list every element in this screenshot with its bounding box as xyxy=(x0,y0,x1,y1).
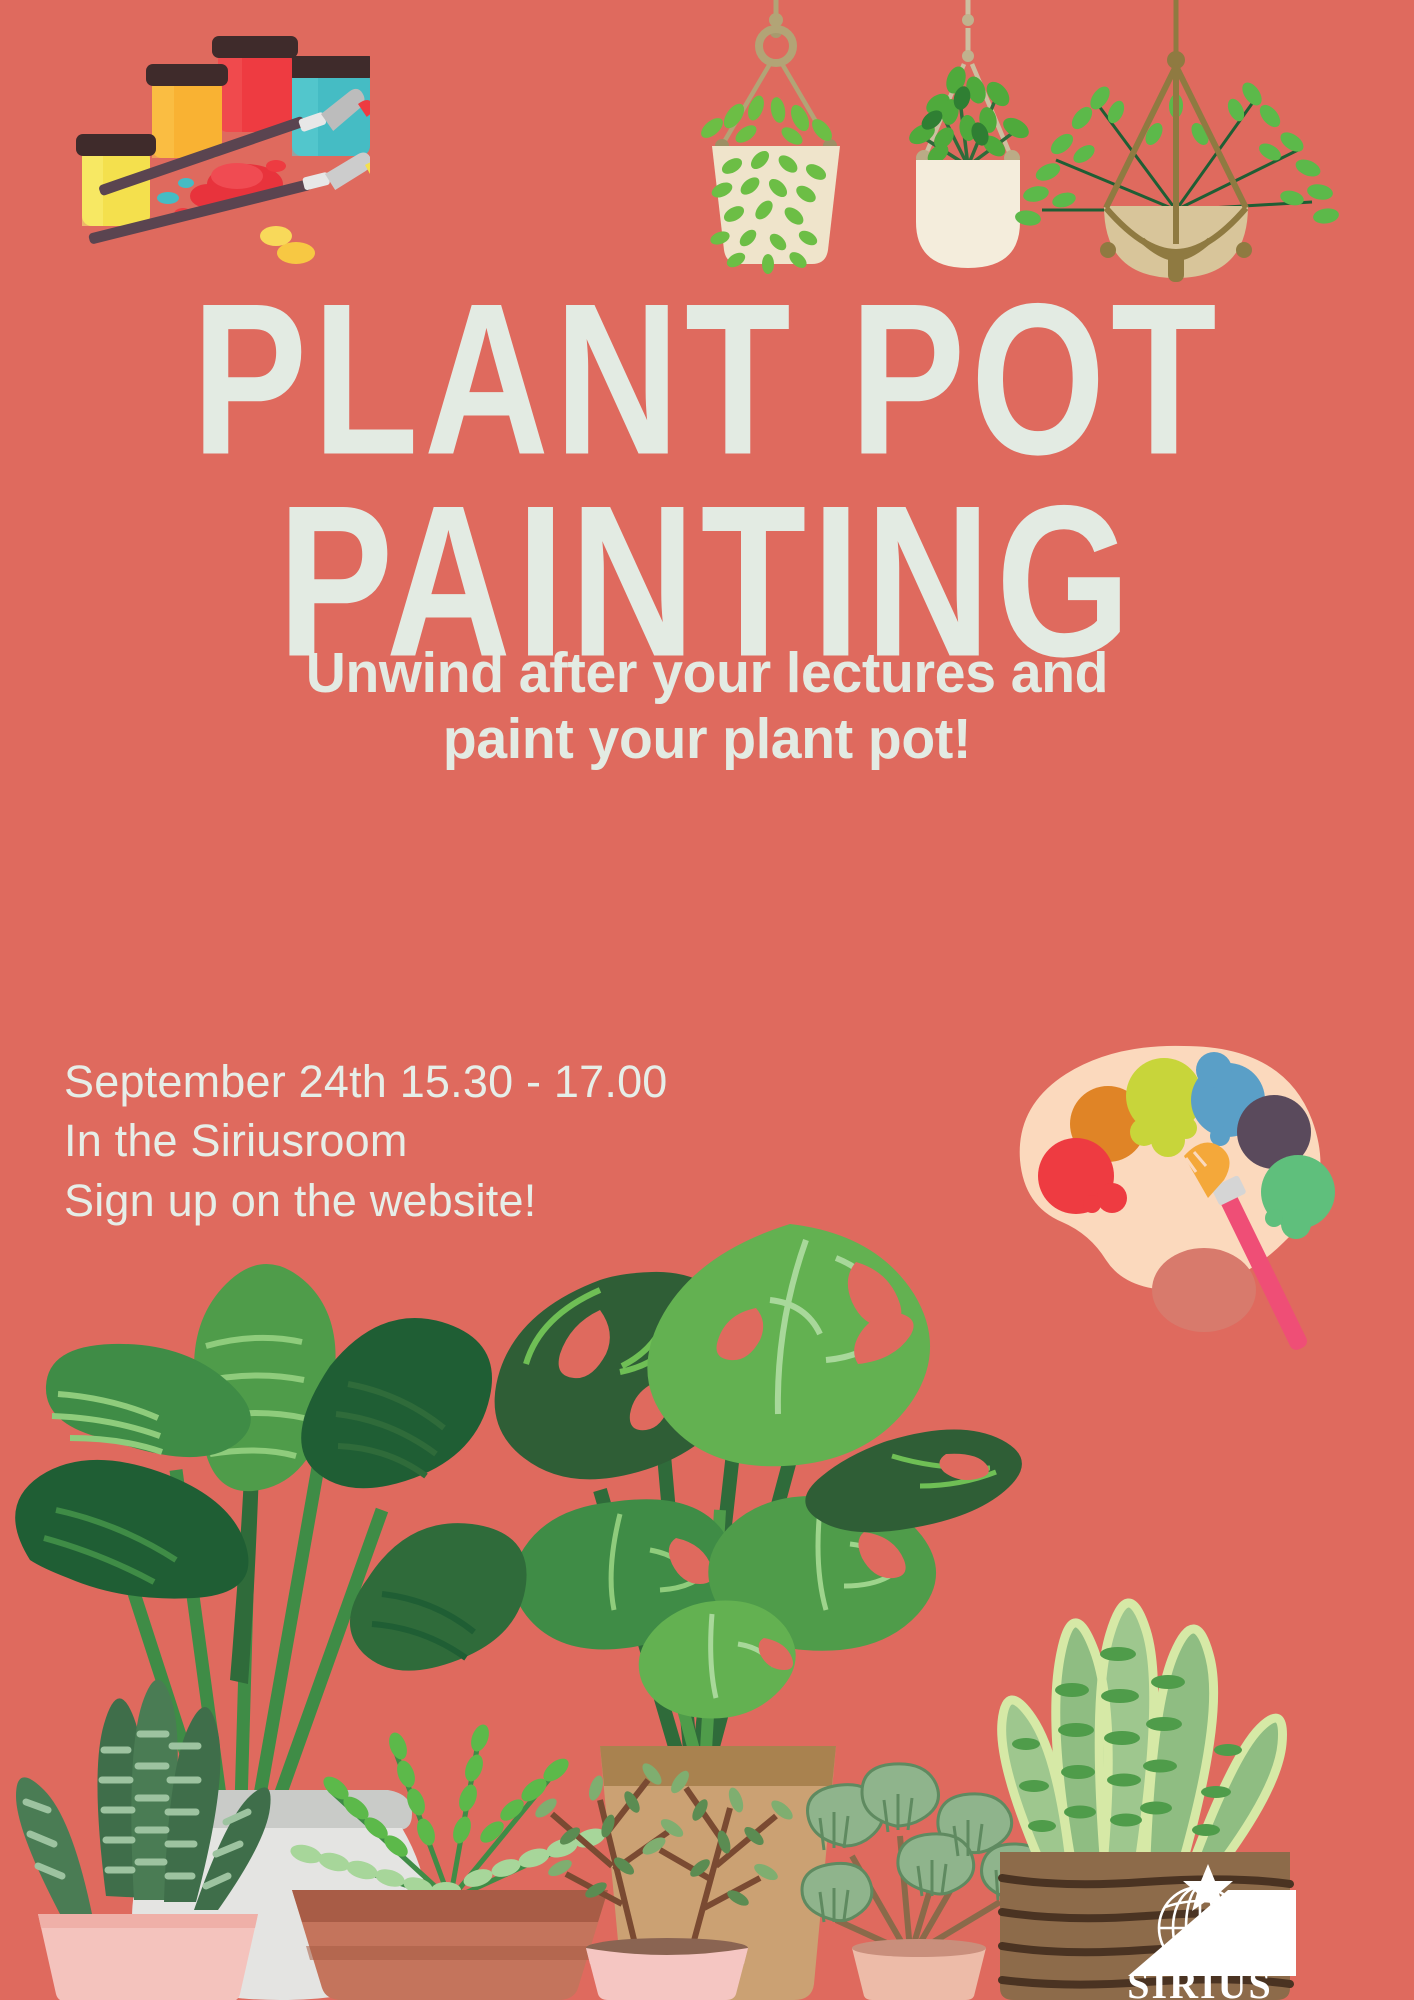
logo-wordmark: SIRIUS xyxy=(1127,1962,1272,2000)
plant-sansevieria: SIRIUS xyxy=(1000,1603,1296,2000)
hanging-planter-right xyxy=(1014,0,1340,282)
hanging-planter-left xyxy=(698,0,840,274)
event-details: September 24th 15.30 - 17.00 In the Siri… xyxy=(64,1052,668,1230)
event-signup-note: Sign up on the website! xyxy=(64,1171,668,1230)
poster-title: PLANT POT PAINTING xyxy=(0,276,1414,659)
event-location: In the Siriusroom xyxy=(64,1111,668,1170)
title-line-1: PLANT POT xyxy=(49,276,1364,485)
paint-jar-orange xyxy=(146,64,228,158)
hanging-planter-middle xyxy=(906,0,1033,268)
paint-supplies-illustration xyxy=(40,8,370,268)
plant-snake-striped xyxy=(16,1679,271,2000)
hanging-planters-illustration xyxy=(676,0,1414,294)
subtitle-line-2: paint your plant pot! xyxy=(21,706,1393,772)
subtitle-line-1: Unwind after your lectures and xyxy=(21,640,1393,706)
globe-icon xyxy=(1159,1887,1241,1969)
paint-splatter-yellow xyxy=(260,226,315,264)
poster-canvas: SIRIUS PLANT POT PAINTING Unwind after y… xyxy=(0,0,1414,2000)
plant-fern xyxy=(288,1722,608,2000)
poster-subtitle: Unwind after your lectures and paint you… xyxy=(0,640,1414,772)
event-datetime: September 24th 15.30 - 17.00 xyxy=(64,1052,668,1111)
paint-splatter-teal xyxy=(157,178,194,204)
